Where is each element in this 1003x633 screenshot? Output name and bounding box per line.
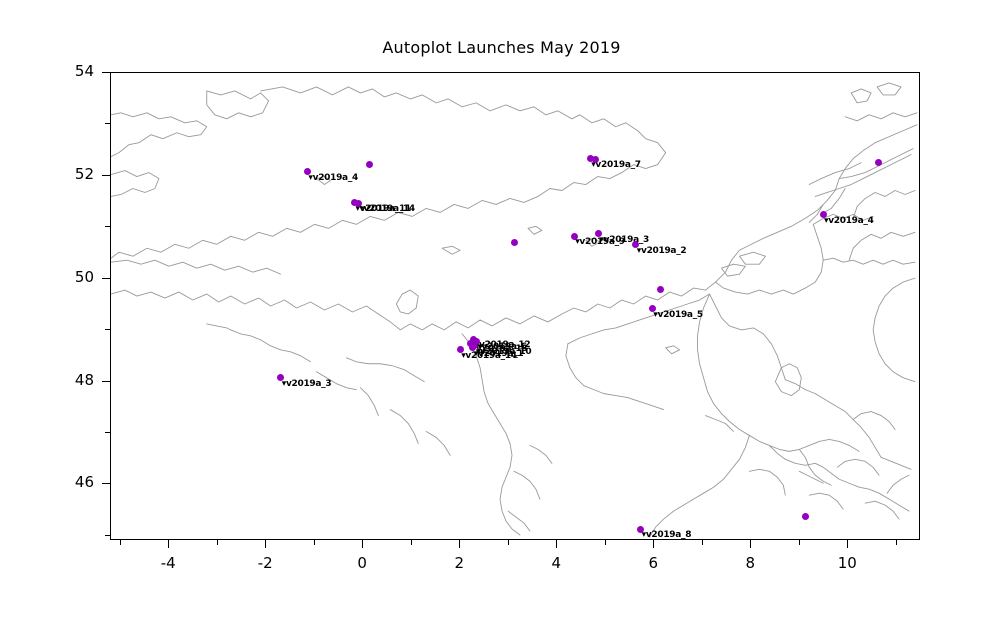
data-point-label: ▾v2019a_2 xyxy=(637,246,687,256)
data-point[interactable] xyxy=(592,156,599,163)
axis-tick xyxy=(847,540,848,548)
axis-tick xyxy=(102,175,110,176)
data-point-label: ▾v2019a_4 xyxy=(824,216,874,226)
y-axis-label: 46 xyxy=(54,473,94,491)
plot-area: ▾v2019a_4▾v2019a_11▾v2019a_14▾v2019a_3▾v… xyxy=(110,72,920,540)
x-axis-label: -4 xyxy=(148,554,188,572)
figure-canvas: Autoplot Launches May 2019 xyxy=(0,0,1003,633)
data-point-label: ▾v2019a_6 xyxy=(477,342,527,352)
y-axis-label: 54 xyxy=(54,62,94,80)
axis-tick xyxy=(168,540,169,548)
axis-tick xyxy=(105,123,110,124)
axis-tick xyxy=(105,432,110,433)
data-point-label: ▾v2019a_8 xyxy=(642,530,692,540)
axis-tick xyxy=(265,540,266,548)
data-point-label: ▾v2019a_3 xyxy=(599,235,649,245)
axis-tick xyxy=(556,540,557,548)
axis-tick xyxy=(105,329,110,330)
x-axis-label: 0 xyxy=(342,554,382,572)
axis-tick xyxy=(799,540,800,545)
axis-tick xyxy=(411,540,412,545)
axis-tick xyxy=(102,381,110,382)
axis-tick xyxy=(105,535,110,536)
x-axis-label: 4 xyxy=(536,554,576,572)
axis-tick xyxy=(605,540,606,545)
data-point-label: ▾v2019a_3 xyxy=(282,379,332,389)
x-axis-label: -2 xyxy=(245,554,285,572)
data-point-label: ▾v2019a_7 xyxy=(591,160,641,170)
data-point[interactable] xyxy=(657,286,664,293)
axis-tick xyxy=(102,278,110,279)
axis-tick xyxy=(508,540,509,545)
data-point-label: ▾v2019a_14 xyxy=(359,204,415,214)
axis-tick xyxy=(120,540,121,545)
data-point-label: ▾v2019a_5 xyxy=(653,310,703,320)
axis-tick xyxy=(750,540,751,548)
data-point-label: ▾v2019a_4 xyxy=(308,173,358,183)
data-point[interactable] xyxy=(875,159,882,166)
x-axis-label: 6 xyxy=(633,554,673,572)
axis-tick xyxy=(314,540,315,545)
axis-tick xyxy=(459,540,460,548)
axis-tick xyxy=(105,226,110,227)
axis-tick xyxy=(102,72,110,73)
y-axis-label: 50 xyxy=(54,268,94,286)
y-axis-label: 52 xyxy=(54,165,94,183)
coastline-map xyxy=(111,73,919,539)
data-point[interactable] xyxy=(366,161,373,168)
axis-tick xyxy=(896,540,897,545)
x-axis-label: 2 xyxy=(439,554,479,572)
x-axis-label: 8 xyxy=(730,554,770,572)
x-axis-label: 10 xyxy=(827,554,867,572)
axis-tick xyxy=(217,540,218,545)
axis-tick xyxy=(362,540,363,548)
chart-title: Autoplot Launches May 2019 xyxy=(0,38,1003,57)
axis-tick xyxy=(702,540,703,545)
data-point[interactable] xyxy=(802,513,809,520)
axis-tick xyxy=(653,540,654,548)
y-axis-label: 48 xyxy=(54,371,94,389)
axis-tick xyxy=(102,483,110,484)
